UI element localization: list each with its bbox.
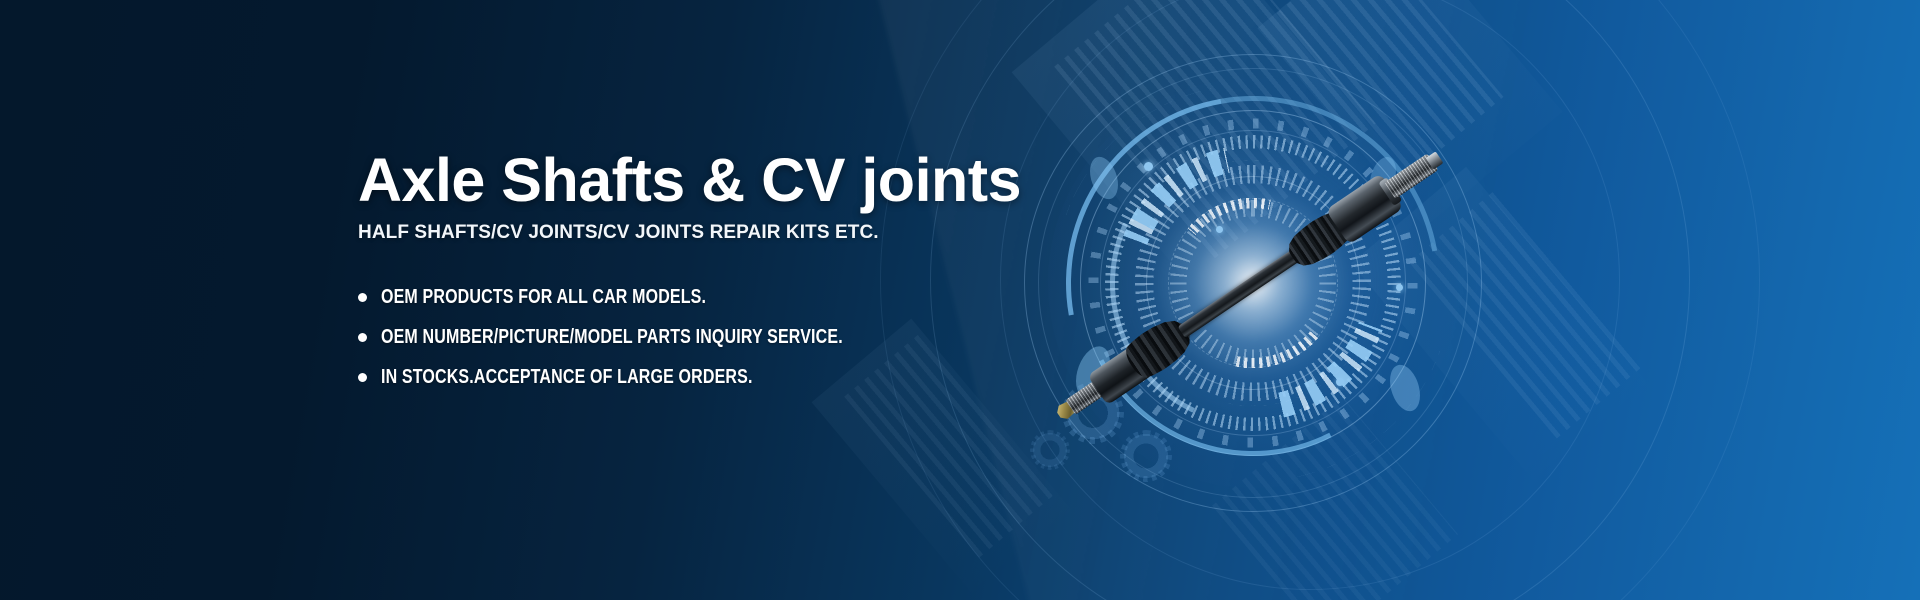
banner-content: Axle Shafts & CV joints HALF SHAFTS/CV J… bbox=[358, 150, 998, 406]
list-item: OEM PRODUCTS FOR ALL CAR MODELS. bbox=[358, 286, 998, 309]
hud-node-dot bbox=[1144, 162, 1153, 171]
feature-text: OEM NUMBER/PICTURE/MODEL PARTS INQUIRY S… bbox=[381, 326, 843, 349]
feature-text: OEM PRODUCTS FOR ALL CAR MODELS. bbox=[381, 286, 706, 309]
bullet-dot-icon bbox=[358, 293, 367, 302]
feature-list: OEM PRODUCTS FOR ALL CAR MODELS. OEM NUM… bbox=[358, 286, 998, 389]
tech-hud-ring-graphic bbox=[1018, 48, 1488, 518]
list-item: OEM NUMBER/PICTURE/MODEL PARTS INQUIRY S… bbox=[358, 326, 998, 349]
list-item: IN STOCKS.ACCEPTANCE OF LARGE ORDERS. bbox=[358, 366, 998, 389]
hud-node-dot bbox=[1396, 284, 1403, 291]
feature-text: IN STOCKS.ACCEPTANCE OF LARGE ORDERS. bbox=[381, 366, 753, 389]
banner-subtitle: HALF SHAFTS/CV JOINTS/CV JOINTS REPAIR K… bbox=[358, 222, 998, 244]
bullet-dot-icon bbox=[358, 373, 367, 382]
banner-title: Axle Shafts & CV joints bbox=[358, 150, 998, 211]
product-banner: Axle Shafts & CV joints HALF SHAFTS/CV J… bbox=[0, 0, 1920, 600]
bullet-dot-icon bbox=[358, 333, 367, 342]
hud-node-dot bbox=[1336, 378, 1344, 386]
hud-node-dot bbox=[1216, 226, 1223, 233]
